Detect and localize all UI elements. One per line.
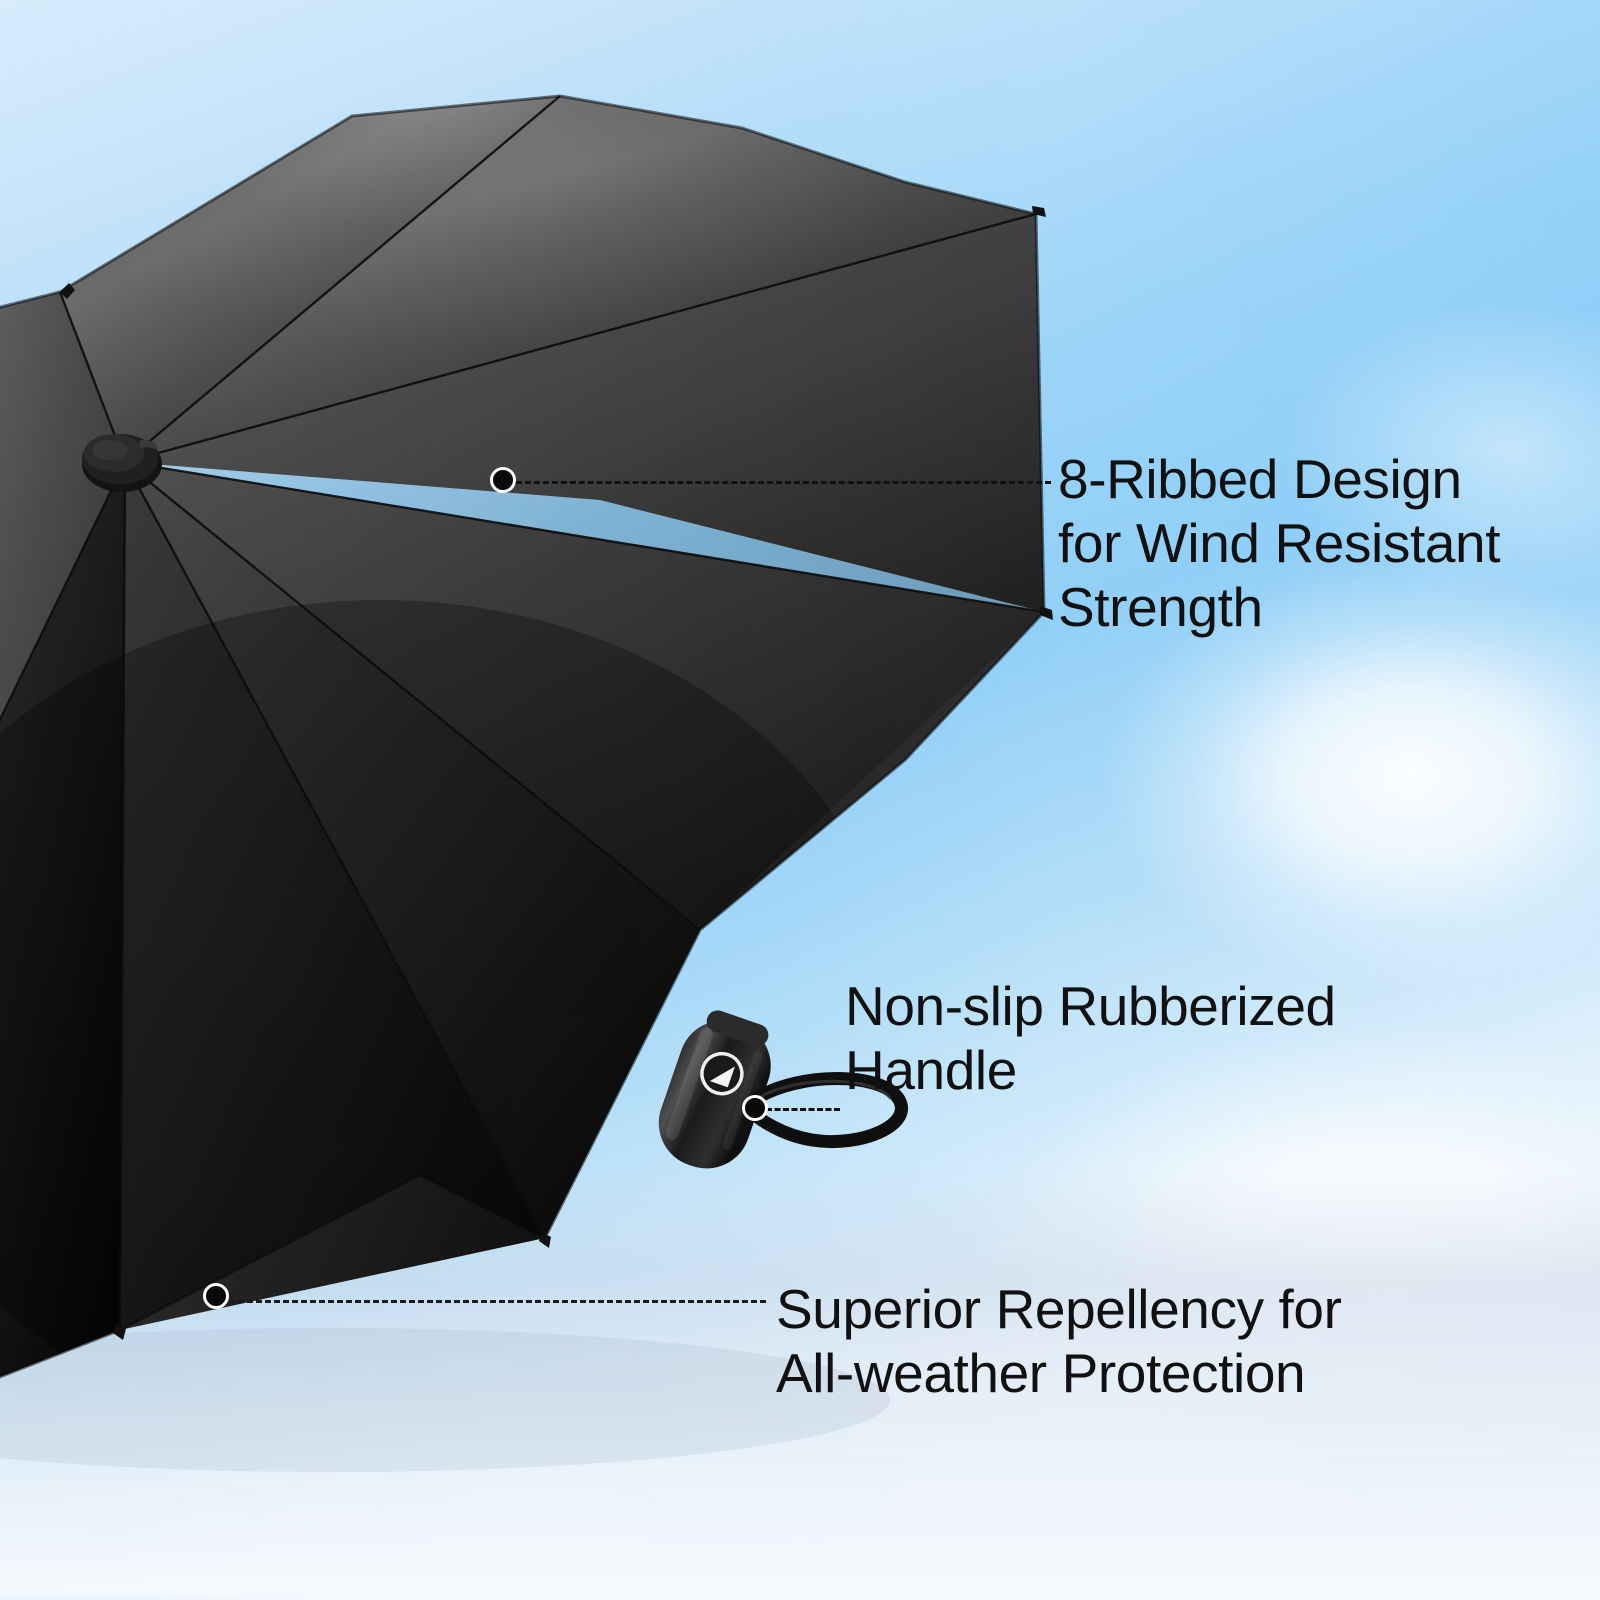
umbrella-hub <box>82 434 162 492</box>
leader-line-handle <box>766 1108 840 1111</box>
rib-tip <box>1040 606 1053 620</box>
leader-line-ribs <box>516 481 1051 484</box>
rib-tip <box>539 1232 551 1248</box>
callout-label-ribs: 8-Ribbed Design for Wind Resistant Stren… <box>1058 448 1598 639</box>
canopy-overlays <box>0 20 1100 1460</box>
callout-marker-ribs[interactable] <box>490 467 516 493</box>
callout-marker-handle[interactable] <box>742 1095 768 1121</box>
callout-marker-repellency[interactable] <box>203 1283 229 1309</box>
umbrella-shadow <box>0 1328 890 1472</box>
callout-label-repellency: Superior Repellency for All-weather Prot… <box>776 1278 1456 1406</box>
leader-line-repellency <box>229 1300 766 1303</box>
product-infographic: 8-Ribbed Design for Wind Resistant Stren… <box>0 0 1600 1600</box>
callout-label-handle: Non-slip Rubberized Handle <box>845 975 1485 1103</box>
